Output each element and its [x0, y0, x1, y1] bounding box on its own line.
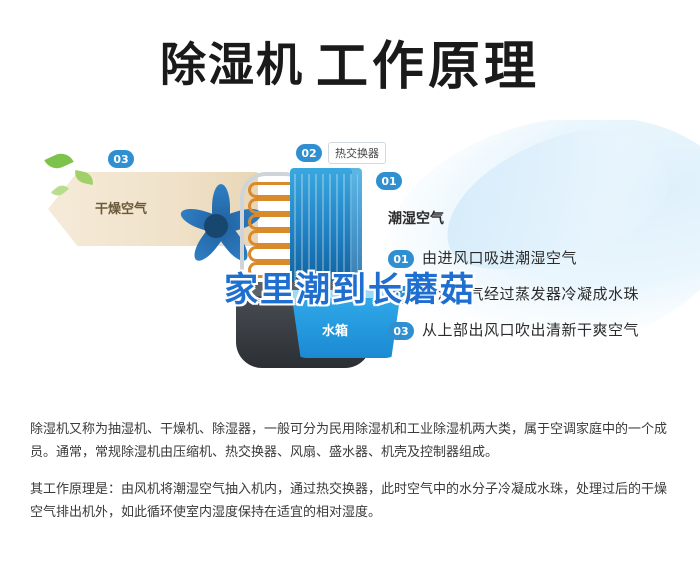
humid-air-label: 潮湿空气: [388, 208, 444, 228]
page-title: 除湿机工作原理: [0, 24, 700, 99]
step-text: 从上部出风口吹出清新干爽空气: [422, 320, 639, 340]
title-part-2: 工作原理: [316, 37, 540, 97]
description-body: 除湿机又称为抽湿机、干燥机、除湿器，一般可分为民用除湿机和工业除湿机两大类，属于…: [30, 418, 670, 538]
list-item: 03 从上部出风口吹出清新干爽空气: [388, 320, 688, 340]
paragraph-2: 其工作原理是：由风机将潮湿空气抽入机内，通过热交换器，此时空气中的水分子冷凝成水…: [30, 478, 670, 524]
page-root: 除湿机工作原理 干燥空气 03 02 热交换器: [0, 0, 700, 566]
step-number: 03: [388, 322, 414, 340]
dry-air-label: 干燥空气: [95, 198, 147, 217]
water-tank-label: 水箱: [322, 320, 348, 339]
paragraph-1: 除湿机又称为抽湿机、干燥机、除湿器，一般可分为民用除湿机和工业除湿机两大类，属于…: [30, 418, 670, 464]
divider: [0, 404, 700, 405]
leaf-icon: [44, 149, 73, 173]
heat-exchanger-callout: 热交换器: [328, 142, 386, 164]
watermark-text: 家里潮到长蘑菇: [0, 262, 700, 311]
badge-01-diagram: 01: [376, 172, 402, 190]
badge-02-diagram: 02: [296, 144, 322, 162]
badge-03-diagram: 03: [108, 150, 134, 168]
title-part-1: 除湿机: [160, 38, 304, 92]
